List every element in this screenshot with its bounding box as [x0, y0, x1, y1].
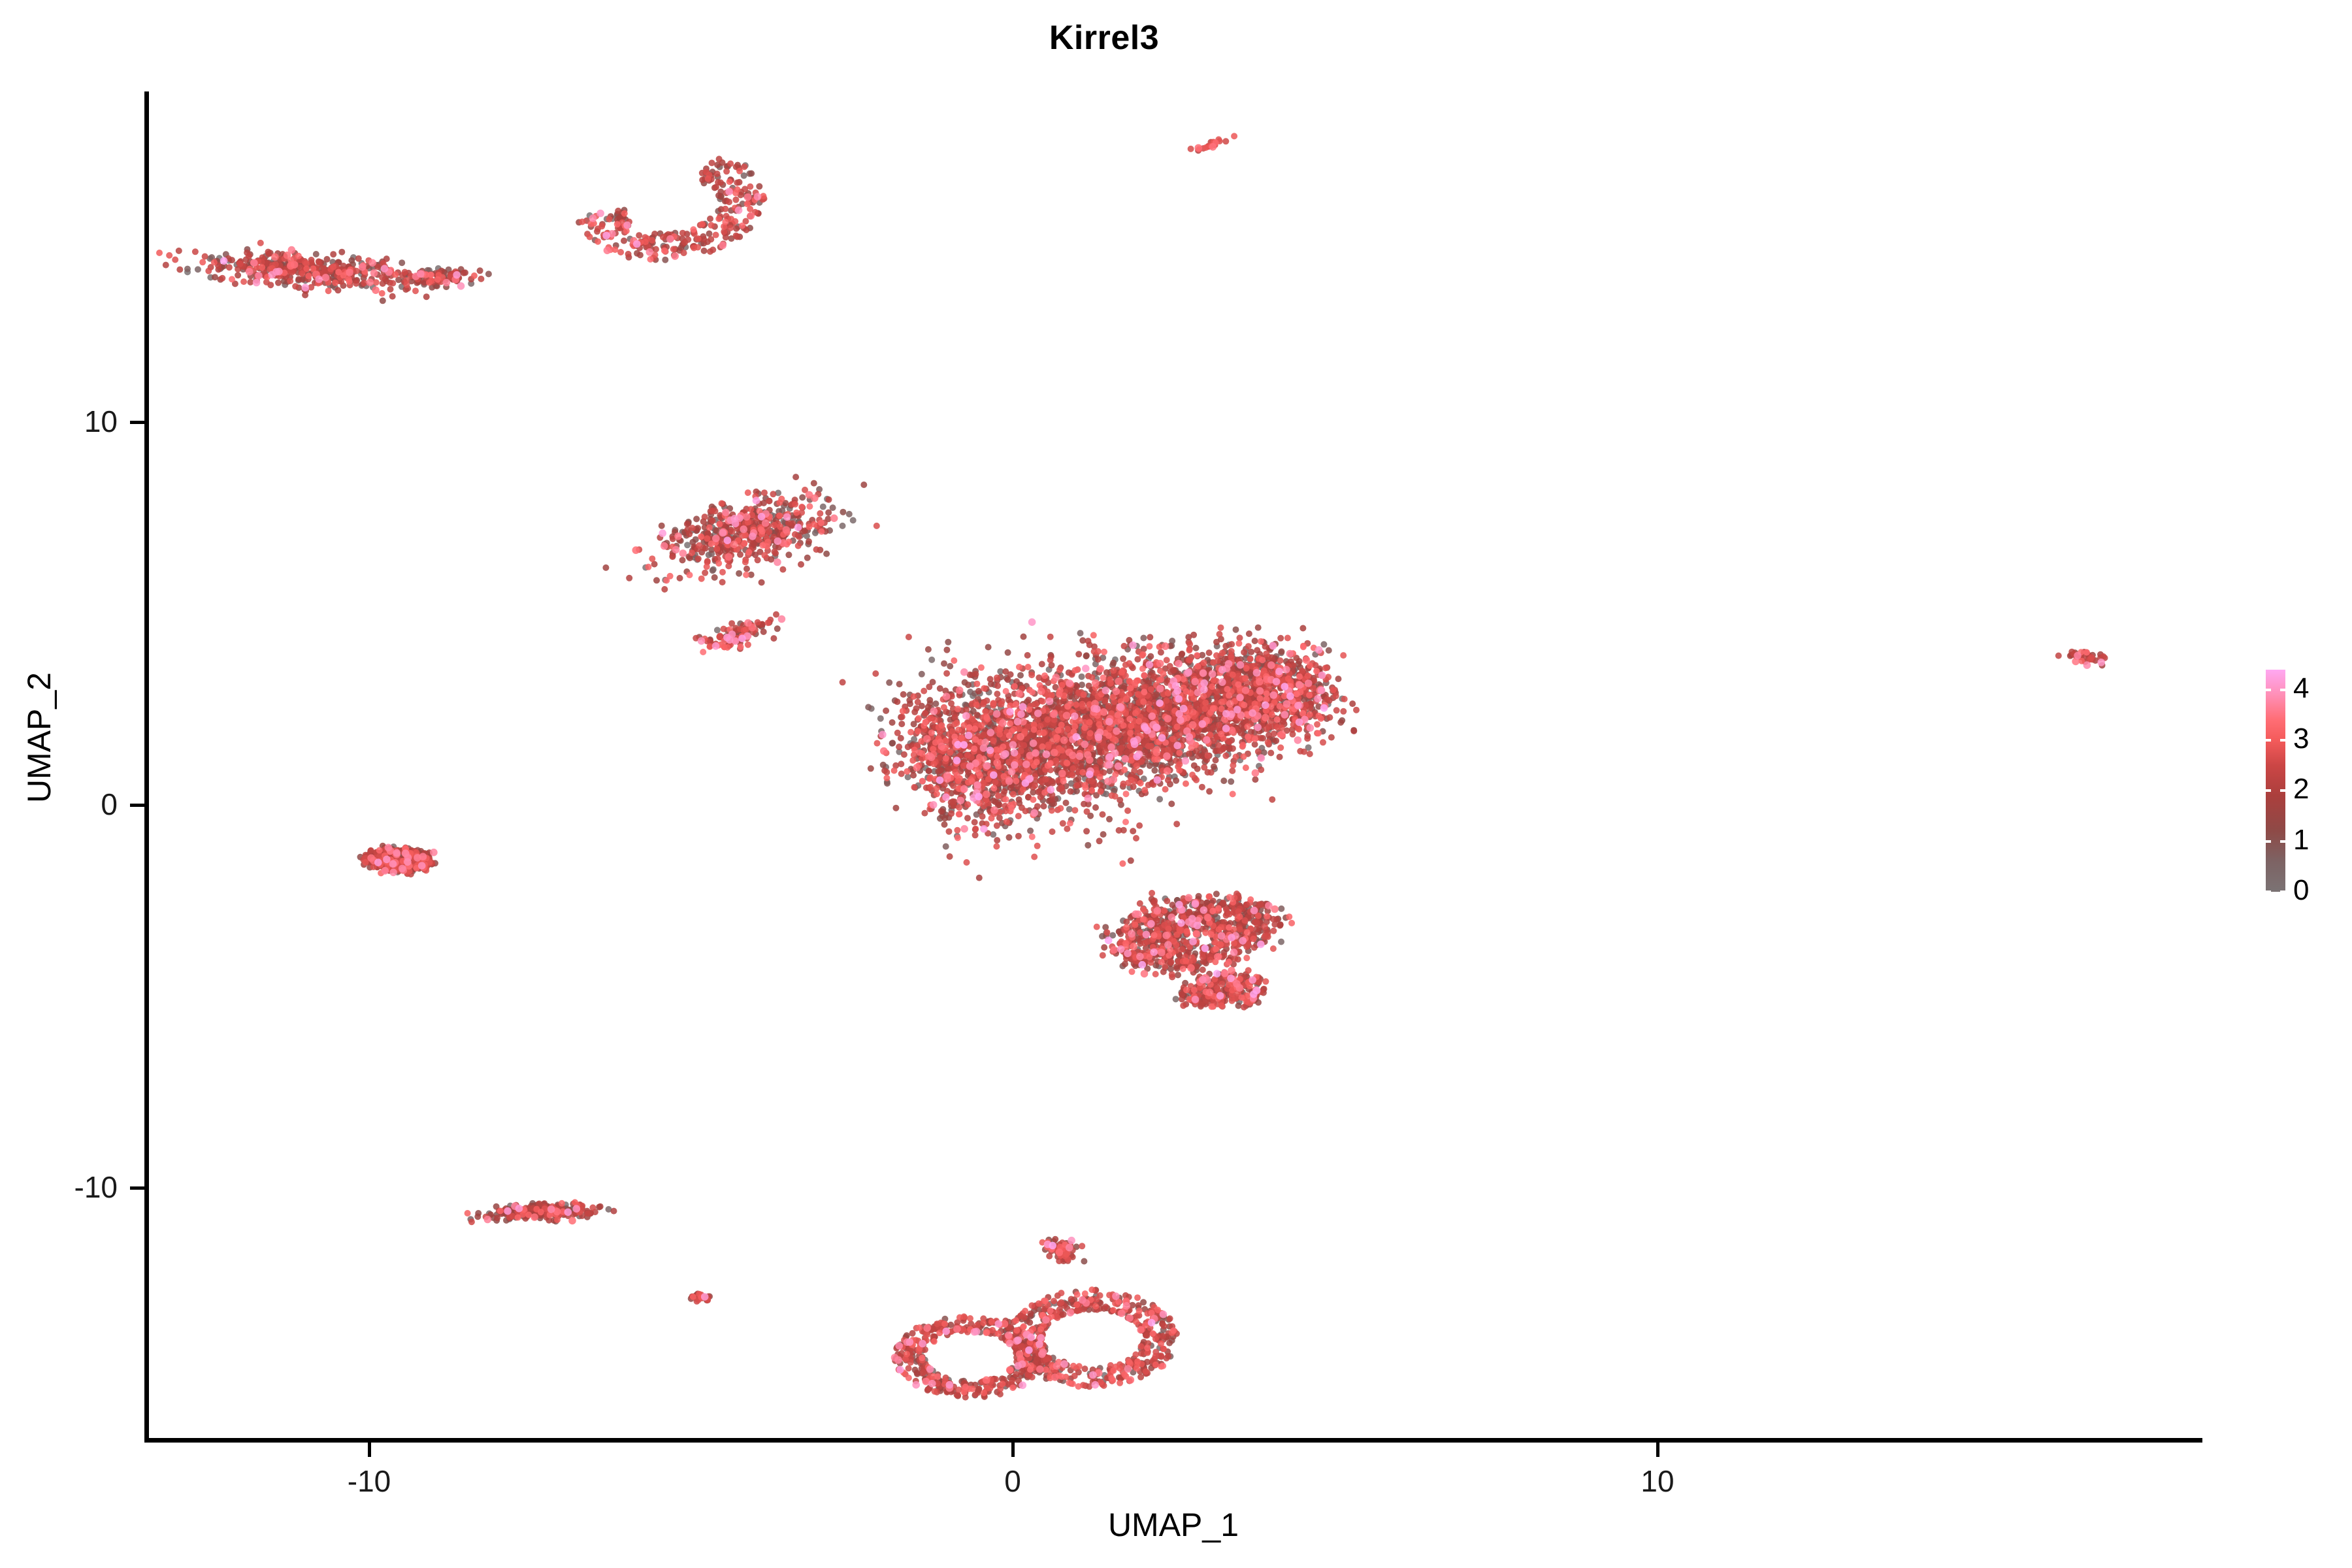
y-axis-title: UMAP_2 [20, 555, 58, 921]
colorbar-tick-1-left [2266, 840, 2271, 843]
colorbar-tick-1-right [2280, 840, 2285, 843]
colorbar-label-3: 3 [2293, 725, 2309, 753]
x-tick-label-0: 0 [947, 1463, 1078, 1499]
y-tick-label-0: 0 [0, 787, 118, 822]
colorbar-label-0: 0 [2293, 876, 2309, 905]
x-tick-mark-neg10 [368, 1443, 371, 1457]
x-tick-label-neg10: -10 [304, 1463, 434, 1499]
colorbar-tick-4-right [2280, 689, 2285, 691]
y-tick-mark-10 [130, 421, 144, 424]
scatter-points-layer [144, 91, 2202, 1441]
colorbar-tick-4-left [2266, 689, 2271, 691]
colorbar-label-4: 4 [2293, 674, 2309, 703]
colorbar-tick-0-left [2266, 890, 2271, 893]
umap-feature-plot: Kirrel3 -10 0 10 10 0 -10 UMAP_1 UMAP_2 … [0, 0, 2352, 1568]
colorbar-legend: 01234 [2266, 670, 2344, 895]
x-tick-mark-0 [1011, 1443, 1015, 1457]
colorbar-label-2: 2 [2293, 775, 2309, 804]
page-title: Kirrel3 [0, 18, 2208, 57]
y-tick-mark-neg10 [130, 1186, 144, 1190]
y-axis-line [144, 91, 149, 1443]
colorbar-tick-3-right [2280, 739, 2285, 742]
y-tick-label-neg10: -10 [0, 1169, 118, 1205]
colorbar-gradient [2266, 670, 2285, 892]
colorbar-tick-2-left [2266, 789, 2271, 792]
colorbar-tick-3-left [2266, 739, 2271, 742]
x-tick-label-10: 10 [1592, 1463, 1723, 1499]
x-axis-line [144, 1438, 2202, 1443]
y-tick-label-10: 10 [0, 404, 118, 439]
colorbar-label-1: 1 [2293, 826, 2309, 855]
y-tick-mark-0 [130, 804, 144, 807]
x-tick-mark-10 [1656, 1443, 1659, 1457]
plot-panel [144, 91, 2202, 1441]
colorbar-tick-2-right [2280, 789, 2285, 792]
x-axis-title: UMAP_1 [144, 1506, 2202, 1544]
colorbar-tick-0-right [2280, 890, 2285, 893]
